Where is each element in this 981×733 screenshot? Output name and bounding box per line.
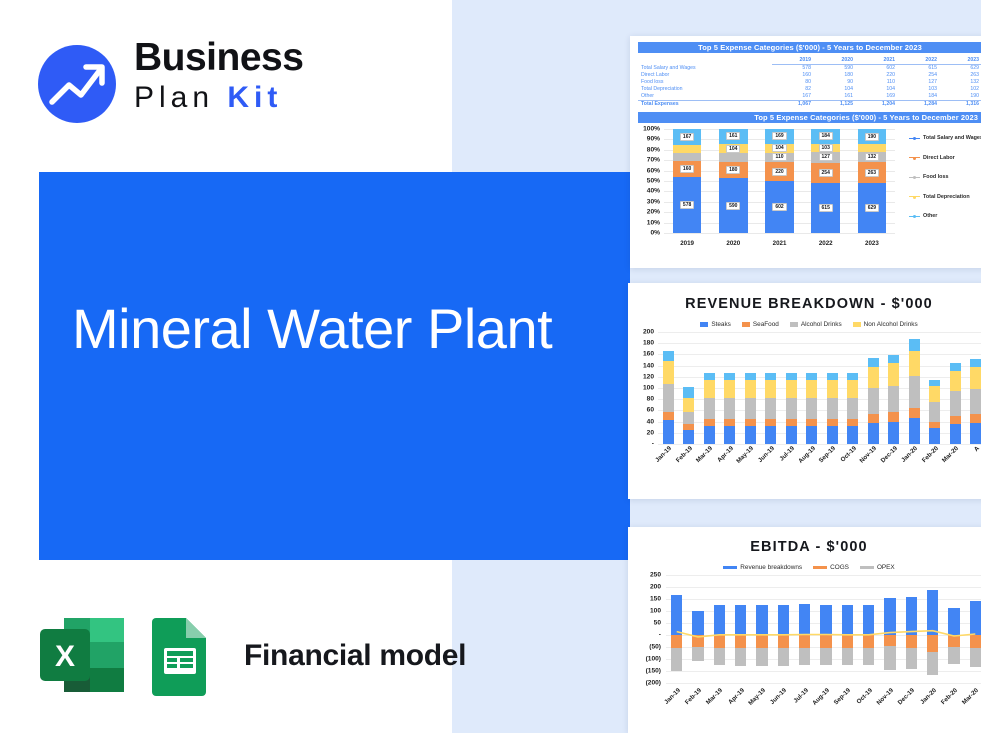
logo-line-1: Business xyxy=(134,38,344,77)
y-axis-label: (200) xyxy=(628,680,661,687)
bar-segment: 104 xyxy=(765,144,794,153)
bar-segment xyxy=(827,380,838,398)
stacked-bar xyxy=(888,355,899,444)
bar-segment xyxy=(683,387,694,397)
legend-label: Total Depreciation xyxy=(923,194,970,200)
bars-container: Jan-19Feb-19Mar-19Apr-19May-19Jun-19Jul-… xyxy=(658,332,981,444)
cell: 169 xyxy=(856,93,898,101)
bar-segment xyxy=(950,363,961,371)
col-header-0 xyxy=(638,57,772,65)
bar-segment xyxy=(909,351,920,377)
bar-slot: Mar-19 xyxy=(699,332,720,444)
bar-slot: Jul-19 xyxy=(781,332,802,444)
col-header-2021: 2021 xyxy=(856,57,898,65)
bar-segment xyxy=(663,420,674,444)
stacked-bar: 161104180590 xyxy=(719,129,748,233)
bar-segment xyxy=(683,398,694,412)
stacked-bar: 190132263629 xyxy=(858,129,887,233)
y-axis-label: 100 xyxy=(628,385,654,392)
legend-item: Alcohol Drinks xyxy=(790,321,842,328)
table-row: Total Depreciation 82 104 104 103 102 xyxy=(638,86,981,93)
stacked-bar xyxy=(868,358,879,444)
bars-container: 1671605782019161104180590202016910411022… xyxy=(664,129,895,233)
bar-segment xyxy=(888,422,899,444)
legend-label: SeaFood xyxy=(753,321,779,328)
bar-segment xyxy=(847,419,858,426)
bar-segment: 254 xyxy=(811,163,840,184)
bar-segment xyxy=(970,367,981,388)
ebitda-line-series xyxy=(666,575,981,683)
cell: 254 xyxy=(898,72,940,79)
y-axis-label: 90% xyxy=(632,136,660,143)
cell: 263 xyxy=(940,72,981,79)
legend-label: Food loss xyxy=(923,174,948,180)
y-axis-label: 80 xyxy=(628,396,654,403)
bar-segment: 629 xyxy=(858,183,887,233)
page-title: Mineral Water Plant xyxy=(72,293,592,365)
slide-root: Business Plan Kit Mineral Water Plant X xyxy=(0,0,981,733)
bar-slot: Dec-19 xyxy=(884,332,905,444)
stacked-bar xyxy=(786,373,797,444)
legend-item: OPEX xyxy=(860,564,895,571)
revenue-chart-legend: SteaksSeaFoodAlcohol DrinksNon Alcohol D… xyxy=(628,321,981,328)
row-label: Total Salary and Wages xyxy=(638,65,772,73)
bar-segment xyxy=(786,380,797,398)
row-label: Total Depreciation xyxy=(638,86,772,93)
bar-segment xyxy=(888,412,899,422)
bar-value-label: 615 xyxy=(819,204,833,212)
bar-segment xyxy=(745,380,756,398)
bar-segment: 104 xyxy=(719,144,748,154)
bar-value-label: 190 xyxy=(865,133,879,141)
revenue-chart-title: REVENUE BREAKDOWN - $'000 xyxy=(628,296,981,312)
bar-segment xyxy=(683,430,694,444)
bar-segment: 578 xyxy=(673,177,702,233)
bar-segment: 615 xyxy=(811,183,840,233)
cell: 132 xyxy=(940,79,981,86)
bar-segment: 110 xyxy=(765,153,794,162)
stacked-bar xyxy=(745,373,756,444)
legend-item: Total Salary and Wages xyxy=(909,135,981,141)
expenses-stacked-chart: 100%90%80%70%60%50%40%30%20%10%0%1671605… xyxy=(630,123,981,251)
cell: 110 xyxy=(856,79,898,86)
bar-segment xyxy=(724,426,735,444)
stacked-bar xyxy=(909,339,920,444)
bar-slot: Apr-19 xyxy=(720,332,741,444)
bar-segment: 132 xyxy=(858,152,887,162)
stacked-bar xyxy=(970,359,981,444)
bar-segment xyxy=(888,386,899,412)
table-header-row: 2019 2020 2021 2022 2023 xyxy=(638,57,981,65)
bar-segment xyxy=(970,359,981,367)
cell: 80 xyxy=(772,79,814,86)
legend-item: Non Alcohol Drinks xyxy=(853,321,918,328)
bar-segment xyxy=(868,388,879,414)
bar-segment xyxy=(765,398,776,419)
y-axis-label: 60% xyxy=(632,167,660,174)
legend-label: Steaks xyxy=(711,321,731,328)
bar-segment xyxy=(806,426,817,444)
cell: 590 xyxy=(814,65,856,73)
table-total-row: Total Expenses 1,067 1,125 1,204 1,284 1… xyxy=(638,101,981,109)
logo-line-2: Plan Kit xyxy=(134,79,344,117)
bar-segment xyxy=(806,380,817,398)
cell: 104 xyxy=(856,86,898,93)
bar-segment xyxy=(724,419,735,426)
y-axis-label: (100) xyxy=(628,656,661,663)
logo-plan-text: Plan xyxy=(134,81,214,114)
bar-segment xyxy=(950,424,961,444)
bar-segment: 103 xyxy=(811,144,840,152)
bar-slot: Mar-20 xyxy=(945,332,966,444)
table-row: Other 167 161 169 184 190 xyxy=(638,93,981,101)
y-axis-label: 100 xyxy=(628,608,661,615)
bar-slot: 1901322636292023 xyxy=(849,129,895,233)
ebitda-chart-title: EBITDA - $'000 xyxy=(628,539,981,555)
cell: 629 xyxy=(940,65,981,73)
bar-segment: 263 xyxy=(858,162,887,183)
legend-marker xyxy=(909,196,920,197)
legend-marker xyxy=(909,157,920,158)
bar-slot: Jan-20 xyxy=(904,332,925,444)
col-header-2022: 2022 xyxy=(898,57,940,65)
svg-text:X: X xyxy=(55,640,75,673)
bar-segment xyxy=(719,153,748,161)
legend-swatch xyxy=(723,566,737,569)
revenue-bar-chart: 20018016014012010080604020-Jan-19Feb-19M… xyxy=(628,328,981,486)
bar-segment xyxy=(786,426,797,444)
legend-label: Other xyxy=(923,213,937,219)
bar-value-label: 167 xyxy=(680,133,694,141)
cell: 1,316 xyxy=(940,101,981,109)
bar-segment: 220 xyxy=(765,162,794,181)
cell: 578 xyxy=(772,65,814,73)
stacked-bar xyxy=(806,373,817,444)
bar-value-label: 132 xyxy=(865,153,879,161)
y-axis-label: 80% xyxy=(632,146,660,153)
bar-slot: Nov-19 xyxy=(863,332,884,444)
y-axis-label: 160 xyxy=(628,351,654,358)
legend-dot xyxy=(913,157,916,160)
y-axis-label: 10% xyxy=(632,219,660,226)
format-badges: X Financial model xyxy=(38,612,466,700)
bar-slot: Feb-19 xyxy=(679,332,700,444)
legend-dot xyxy=(913,176,916,179)
row-label: Other xyxy=(638,93,772,101)
legend-label: Total Salary and Wages xyxy=(923,135,981,141)
bar-value-label: 629 xyxy=(865,204,879,212)
ebitda-card[interactable]: EBITDA - $'000 Revenue breakdownsCOGSOPE… xyxy=(628,527,981,733)
bar-segment xyxy=(765,373,776,380)
bar-value-label: 184 xyxy=(819,132,833,140)
y-axis-label: 100% xyxy=(632,126,660,133)
y-axis-label: (150) xyxy=(628,668,661,675)
x-axis-label: 2021 xyxy=(756,240,802,247)
legend-label: Revenue breakdowns xyxy=(740,564,802,571)
bar-segment xyxy=(663,361,674,384)
col-header-2023: 2023 xyxy=(940,57,981,65)
cell: 615 xyxy=(898,65,940,73)
bar-value-label: 127 xyxy=(819,153,833,161)
y-axis-label: 20% xyxy=(632,209,660,216)
bar-segment xyxy=(663,351,674,361)
cell: 160 xyxy=(772,72,814,79)
bar-segment xyxy=(858,144,887,152)
legend-swatch xyxy=(790,322,798,327)
bar-segment xyxy=(704,380,715,398)
bar-segment xyxy=(868,367,879,388)
legend-marker xyxy=(909,216,920,217)
col-header-2020: 2020 xyxy=(814,57,856,65)
bar-segment xyxy=(950,371,961,391)
bar-value-label: 103 xyxy=(819,144,833,152)
bar-segment xyxy=(929,402,940,422)
stacked-bar xyxy=(663,351,674,444)
bar-segment xyxy=(909,418,920,444)
bar-value-label: 160 xyxy=(680,165,694,173)
bar-segment xyxy=(673,153,702,161)
microsoft-excel-icon: X xyxy=(38,616,126,696)
plot-area: 1671605782019161104180590202016910411022… xyxy=(664,129,895,233)
background-blue-block xyxy=(39,172,630,560)
legend-swatch xyxy=(853,322,861,327)
bar-segment: 127 xyxy=(811,152,840,162)
legend-dot xyxy=(913,137,916,140)
bar-segment xyxy=(745,419,756,426)
bar-segment xyxy=(827,426,838,444)
expenses-band-title: Top 5 Expense Categories ($'000) - 5 Yea… xyxy=(638,42,981,53)
bar-value-label: 602 xyxy=(772,203,786,211)
y-axis-label: 200 xyxy=(628,584,661,591)
bar-segment xyxy=(765,419,776,426)
bar-segment xyxy=(724,380,735,398)
bar-value-label: 104 xyxy=(726,145,740,153)
bar-segment xyxy=(663,384,674,412)
stacked-bar xyxy=(847,373,858,444)
y-axis-label: 20 xyxy=(628,429,654,436)
bar-segment xyxy=(745,398,756,419)
expenses-card[interactable]: Top 5 Expense Categories ($'000) - 5 Yea… xyxy=(630,36,981,268)
bar-segment xyxy=(868,423,879,444)
y-axis-label: 50% xyxy=(632,178,660,185)
bar-segment xyxy=(663,412,674,421)
row-label: Direct Labor xyxy=(638,72,772,79)
legend-swatch xyxy=(700,322,708,327)
bar-segment xyxy=(970,423,981,444)
y-axis-label: 120 xyxy=(628,373,654,380)
legend-label: OPEX xyxy=(877,564,895,571)
gridline xyxy=(664,233,895,234)
legend-label: COGS xyxy=(830,564,849,571)
bar-segment xyxy=(827,373,838,380)
cell: 220 xyxy=(856,72,898,79)
bar-segment xyxy=(909,408,920,419)
bar-value-label: 110 xyxy=(772,153,786,161)
table-row: Food loss 80 90 110 127 132 xyxy=(638,79,981,86)
bar-segment xyxy=(970,414,981,422)
bar-slot: 1671605782019 xyxy=(664,129,710,233)
x-axis-label: 2019 xyxy=(664,240,710,247)
bar-segment xyxy=(724,373,735,380)
bar-segment xyxy=(806,398,817,419)
bar-segment xyxy=(806,373,817,380)
legend-marker xyxy=(909,138,920,139)
bar-slot: Jan-19 xyxy=(658,332,679,444)
footer-label: Financial model xyxy=(244,639,466,673)
y-axis-label: 250 xyxy=(628,572,661,579)
legend-item: Food loss xyxy=(909,174,981,180)
brand-logo: Business Plan Kit xyxy=(38,32,338,137)
bar-slot: Sep-19 xyxy=(822,332,843,444)
bar-segment xyxy=(786,398,797,419)
legend-dot xyxy=(913,215,916,218)
bar-value-label: 180 xyxy=(726,166,740,174)
legend-swatch xyxy=(813,566,827,569)
bar-value-label: 220 xyxy=(772,168,786,176)
bar-segment xyxy=(888,363,899,386)
stacked-bar: 169104110220602 xyxy=(765,129,794,233)
bar-segment xyxy=(950,416,961,424)
cell: 602 xyxy=(856,65,898,73)
y-axis-label: 50 xyxy=(628,620,661,627)
stacked-bar xyxy=(827,373,838,444)
legend-item: COGS xyxy=(813,564,849,571)
bar-segment xyxy=(673,145,702,153)
bar-segment xyxy=(704,419,715,426)
gridline xyxy=(658,444,981,445)
bar-segment: 160 xyxy=(673,161,702,177)
bar-segment: 190 xyxy=(858,129,887,144)
x-axis-label: 2020 xyxy=(710,240,756,247)
bar-segment xyxy=(950,391,961,416)
y-axis-label: 40 xyxy=(628,418,654,425)
bar-segment xyxy=(786,373,797,380)
row-label: Food loss xyxy=(638,79,772,86)
revenue-card[interactable]: REVENUE BREAKDOWN - $'000 SteaksSeaFoodA… xyxy=(628,283,981,499)
bar-segment xyxy=(827,419,838,426)
bar-slot: May-19 xyxy=(740,332,761,444)
bar-segment xyxy=(827,398,838,419)
bar-value-label: 254 xyxy=(819,169,833,177)
table-row: Direct Labor 160 180 220 254 263 xyxy=(638,72,981,79)
bar-segment xyxy=(847,398,858,419)
gridline xyxy=(666,683,981,684)
bar-value-label: 263 xyxy=(865,169,879,177)
legend-marker xyxy=(909,177,920,178)
legend-swatch xyxy=(742,322,750,327)
bar-segment xyxy=(868,358,879,366)
cell: 82 xyxy=(772,86,814,93)
cell: 1,204 xyxy=(856,101,898,109)
cell: 127 xyxy=(898,79,940,86)
plot-area: Jan-19Feb-19Mar-19Apr-19May-19Jun-19Jul-… xyxy=(658,332,981,444)
legend-label: Non Alcohol Drinks xyxy=(864,321,918,328)
bar-segment xyxy=(909,339,920,350)
bar-slot: 1691041102206022021 xyxy=(756,129,802,233)
cell: 102 xyxy=(940,86,981,93)
cell: 180 xyxy=(814,72,856,79)
bar-segment xyxy=(765,426,776,444)
bar-segment xyxy=(929,428,940,444)
bar-segment xyxy=(847,373,858,380)
bar-segment xyxy=(765,380,776,398)
legend-label: Alcohol Drinks xyxy=(801,321,842,328)
y-axis-label: 180 xyxy=(628,340,654,347)
y-axis-label: 0% xyxy=(632,230,660,237)
cell: 161 xyxy=(814,93,856,101)
growth-arrow-icon xyxy=(38,45,116,123)
legend-item: Direct Labor xyxy=(909,155,981,161)
x-axis-label: 2022 xyxy=(803,240,849,247)
expenses-legend: Total Salary and WagesDirect LaborFood l… xyxy=(909,135,981,233)
cell: 1,067 xyxy=(772,101,814,109)
bar-segment xyxy=(724,398,735,419)
bar-value-label: 578 xyxy=(680,201,694,209)
stacked-bar xyxy=(683,387,694,444)
cell: 184 xyxy=(898,93,940,101)
bar-slot: Feb-20 xyxy=(925,332,946,444)
bar-slot: 1611041805902020 xyxy=(710,129,756,233)
bar-segment: 602 xyxy=(765,181,794,233)
y-axis-label: - xyxy=(628,632,661,639)
bar-segment xyxy=(970,389,981,415)
y-axis-label: 30% xyxy=(632,198,660,205)
ebitda-chart-legend: Revenue breakdownsCOGSOPEX xyxy=(628,564,981,571)
y-axis-label: 200 xyxy=(628,329,654,336)
stacked-bar xyxy=(765,373,776,444)
bar-segment: 169 xyxy=(765,129,794,144)
legend-item: Steaks xyxy=(700,321,731,328)
bar-segment xyxy=(868,414,879,423)
cell: 167 xyxy=(772,93,814,101)
bar-segment xyxy=(745,426,756,444)
x-axis-label: 2023 xyxy=(849,240,895,247)
cell: 190 xyxy=(940,93,981,101)
bar-segment: 161 xyxy=(719,129,748,144)
legend-dot xyxy=(913,196,916,199)
stacked-bar xyxy=(929,380,940,444)
y-axis-label: 60 xyxy=(628,407,654,414)
bar-segment xyxy=(704,373,715,380)
bar-value-label: 161 xyxy=(726,132,740,140)
legend-item: SeaFood xyxy=(742,321,779,328)
col-header-2019: 2019 xyxy=(772,57,814,65)
ebitda-bar-chart: 25020015010050-(50)(100)(150)(200)Jan-19… xyxy=(628,571,981,723)
bar-segment xyxy=(704,426,715,444)
bar-slot: Jun-19 xyxy=(761,332,782,444)
row-label: Total Expenses xyxy=(638,101,772,109)
bar-segment: 184 xyxy=(811,129,840,144)
y-axis-label: 40% xyxy=(632,188,660,195)
table-row: Total Salary and Wages 578 590 602 615 6… xyxy=(638,65,981,73)
stacked-bar xyxy=(950,363,961,444)
bar-segment: 590 xyxy=(719,178,748,233)
bar-segment xyxy=(888,355,899,363)
expenses-table: 2019 2020 2021 2022 2023 Total Salary an… xyxy=(630,53,981,108)
bar-value-label: 104 xyxy=(772,144,786,152)
bar-segment: 167 xyxy=(673,129,702,145)
legend-item: Total Depreciation xyxy=(909,194,981,200)
y-axis-label: (50) xyxy=(628,644,661,651)
y-axis-label: 140 xyxy=(628,362,654,369)
google-sheets-icon xyxy=(148,616,212,696)
y-axis-label: 150 xyxy=(628,596,661,603)
bar-segment xyxy=(847,426,858,444)
bar-value-label: 169 xyxy=(772,132,786,140)
bar-segment xyxy=(909,376,920,407)
bar-value-label: 590 xyxy=(726,202,740,210)
y-axis-label: - xyxy=(628,441,654,448)
